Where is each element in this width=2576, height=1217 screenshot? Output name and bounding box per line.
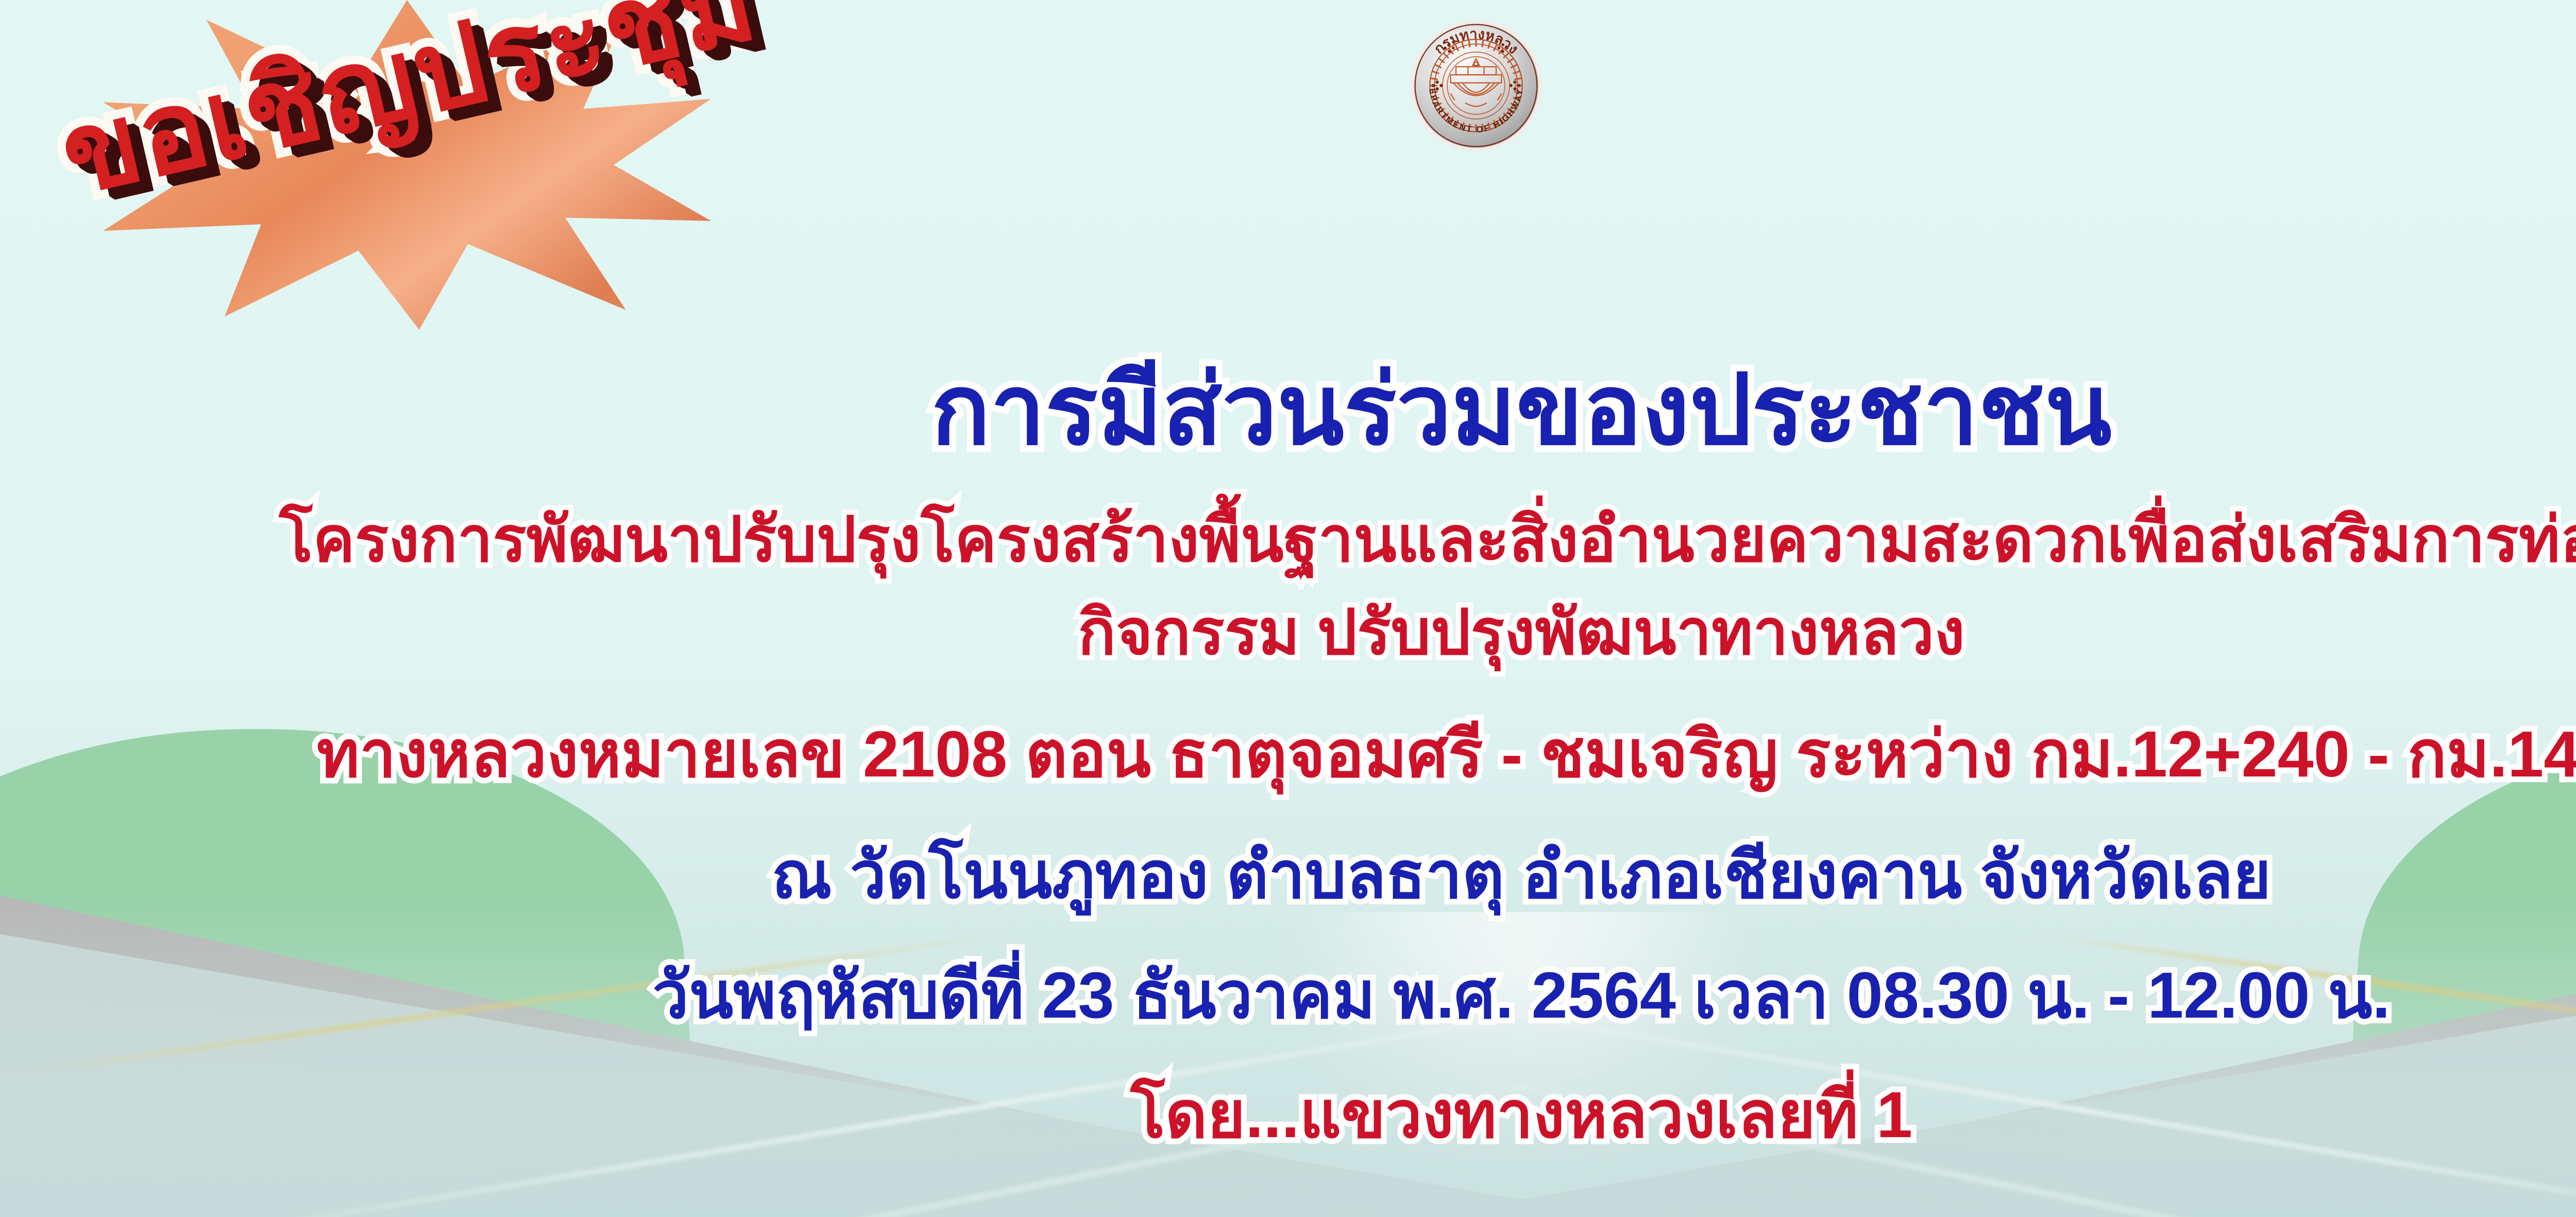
- invitation-starburst-badge: ขอเชิญประชุม: [41, 0, 845, 345]
- foreground-haze: [0, 898, 2576, 1217]
- department-of-highways-seal-icon: กรมทางหลวง DEPARTMENT OF HIGHWAYS: [1409, 19, 1543, 153]
- highway-route-line: ทางหลวงหมายเลข 2108 ตอน ธาตุจอมศรี - ชมเ…: [0, 721, 2576, 788]
- activity-line: กิจกรรม ปรับปรุงพัฒนาทางหลวง: [0, 600, 2576, 664]
- page-title: การมีส่วนร่วมของประชาชน: [0, 361, 2576, 461]
- venue-line: ณ วัดโนนภูทอง ตำบลธาตุ อำเภอเชียงคาน จัง…: [0, 842, 2576, 909]
- announcement-poster: ขอเชิญประชุม: [0, 0, 2576, 1217]
- organizer-line: โดย...แขวงทางหลวงเลยที่ 1: [0, 1082, 2576, 1148]
- project-name-line: โครงการพัฒนาปรับปรุงโครงสร้างพื้นฐานและส…: [0, 508, 2576, 571]
- datetime-line: วันพฤหัสบดีที่ 23 ธันวาคม พ.ศ. 2564 เวลา…: [0, 962, 2576, 1029]
